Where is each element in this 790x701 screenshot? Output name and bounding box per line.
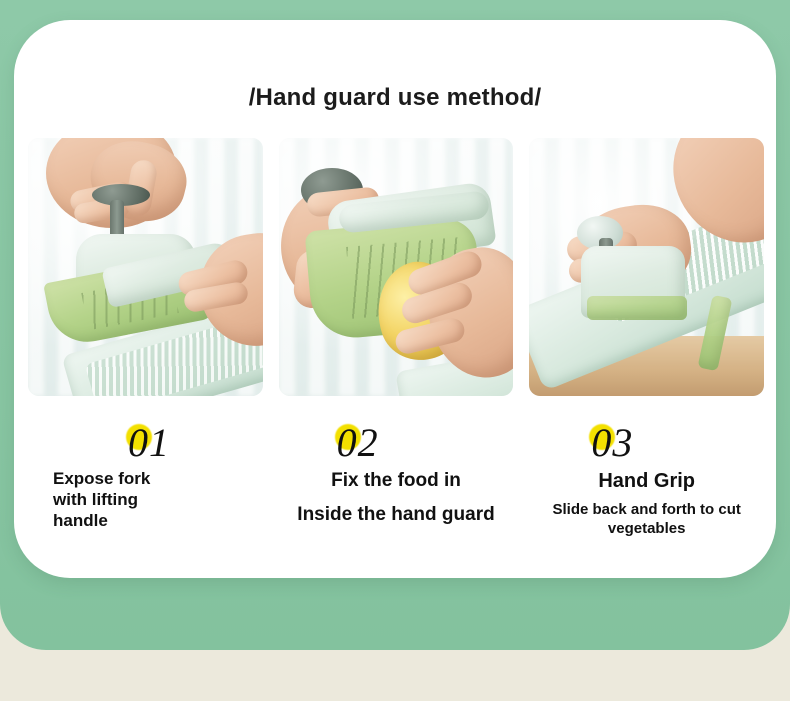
steps-list: 01 Expose fork with lifting handle 02 Fi… bbox=[28, 416, 764, 566]
step-item-3: 03 Hand Grip Slide back and forth to cut… bbox=[529, 416, 764, 566]
step-item-2: 02 Fix the food in Inside the hand guard bbox=[279, 416, 514, 566]
step-caption-1: Expose fork with lifting handle bbox=[28, 468, 178, 531]
step-number-wrap-2: 02 bbox=[279, 416, 514, 468]
content-card: /Hand guard use method/ bbox=[14, 20, 776, 578]
step-item-1: 01 Expose fork with lifting handle bbox=[28, 416, 263, 566]
step-number-3: 03 bbox=[591, 419, 633, 466]
photo-step-3[interactable] bbox=[529, 138, 764, 396]
step-number-2: 02 bbox=[337, 419, 379, 466]
hand-guard-base bbox=[587, 296, 687, 320]
step-number-1: 01 bbox=[128, 419, 170, 466]
step-number-wrap-1: 01 bbox=[28, 416, 263, 468]
step-caption-3-sub: Slide back and forth to cut vegetables bbox=[529, 500, 764, 538]
step-caption-3-main: Hand Grip bbox=[529, 468, 764, 494]
photo-gallery bbox=[28, 138, 764, 396]
step-caption-2-main: Fix the food in bbox=[279, 468, 514, 494]
photo-step-2[interactable] bbox=[279, 138, 514, 396]
step-number-wrap-3: 03 bbox=[529, 416, 764, 468]
page-title: /Hand guard use method/ bbox=[14, 84, 776, 112]
photo-step-1[interactable] bbox=[28, 138, 263, 396]
page-root: /Hand guard use method/ bbox=[0, 0, 790, 701]
step-caption-2-sub: Inside the hand guard bbox=[279, 502, 514, 528]
